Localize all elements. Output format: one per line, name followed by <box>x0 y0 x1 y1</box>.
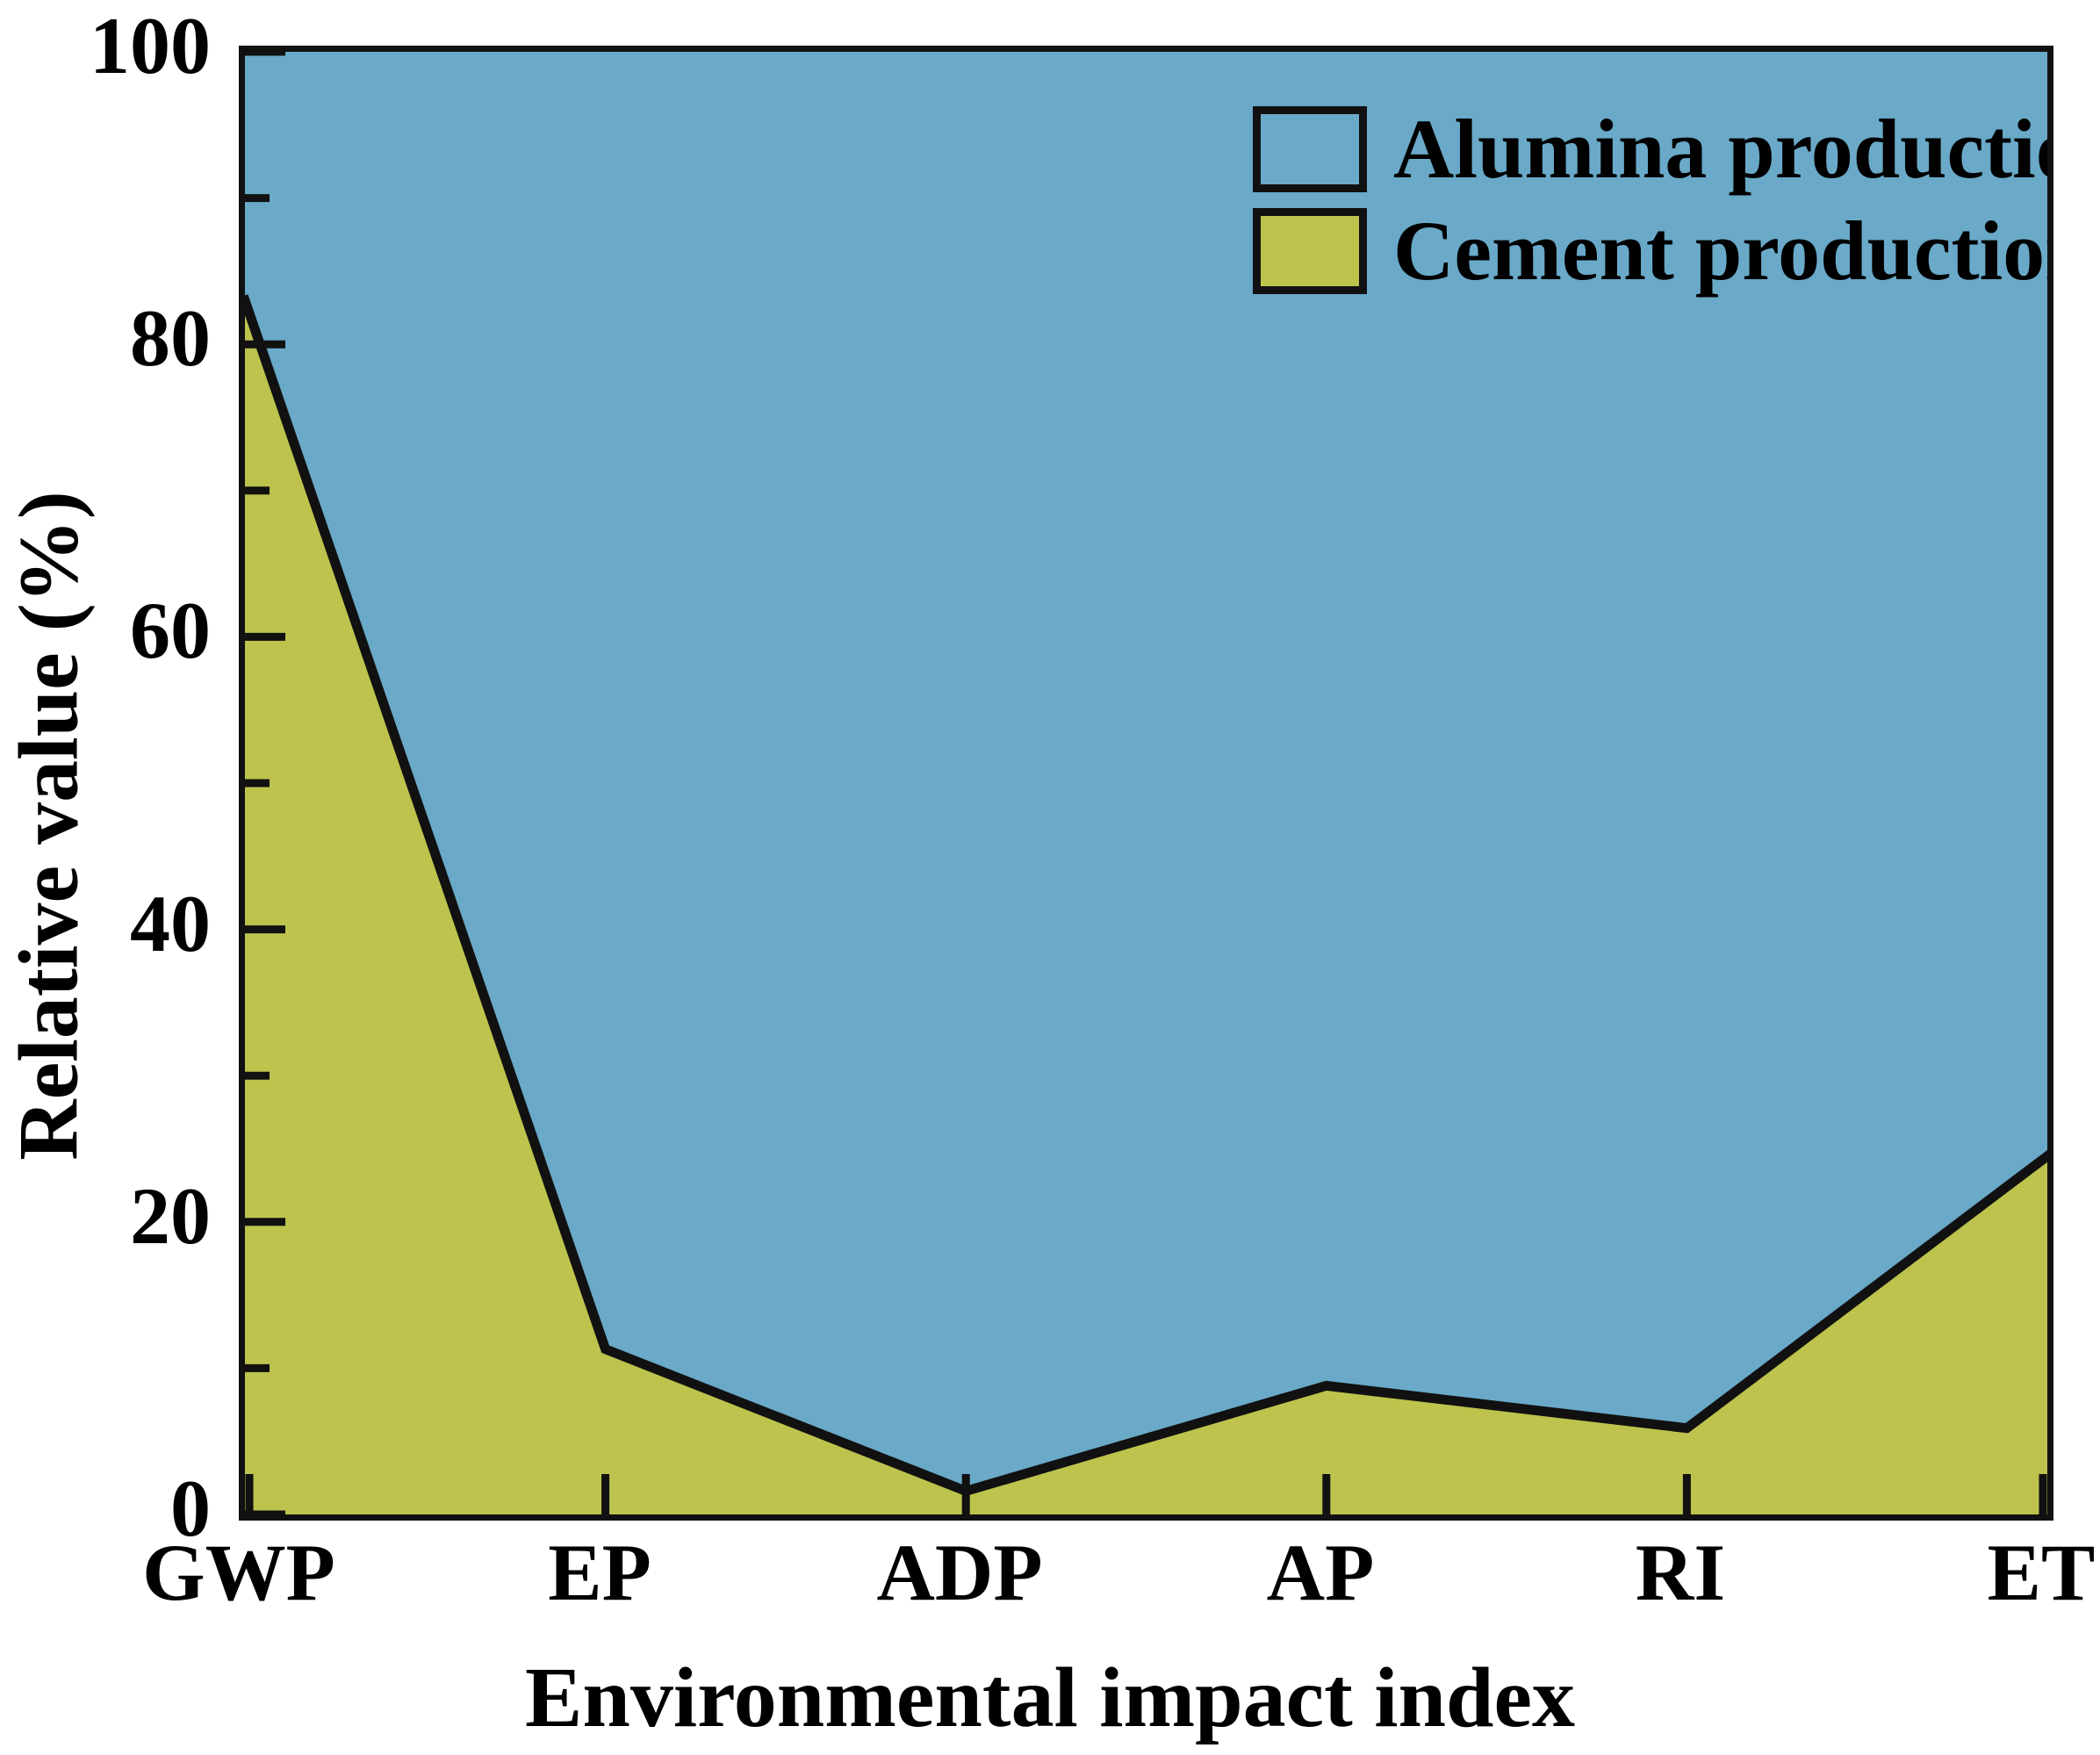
y-axis-title: Relative value (%) <box>0 299 97 1353</box>
x-tick-label-ri: RI <box>1636 1532 1725 1613</box>
x-tick-label-ap: AP <box>1267 1532 1375 1613</box>
x-axis-title: Environmental impact index <box>0 1649 2100 1747</box>
y-tick-label-100: 100 <box>0 5 211 86</box>
legend-label-alumina: Alumina production (1t) <box>1393 107 2053 191</box>
x-tick-label-gwp: GWP <box>142 1532 335 1613</box>
legend-item-alumina[interactable]: Alumina production (1t) <box>1253 106 2053 192</box>
legend-label-cement: Cement production (1t) <box>1393 209 2053 293</box>
chart-legend: Alumina production (1t) Cement productio… <box>1253 106 2053 294</box>
x-tick-label-ep: EP <box>548 1532 651 1613</box>
x-tick-label-adp: ADP <box>876 1532 1042 1613</box>
plot-area: Alumina production (1t) Cement productio… <box>239 46 2053 1521</box>
legend-swatch-cement <box>1253 208 1367 294</box>
x-tick-label-et: ET <box>1988 1532 2096 1613</box>
chart-figure: Alumina production (1t) Cement productio… <box>0 0 2100 1755</box>
legend-item-cement[interactable]: Cement production (1t) <box>1253 208 2053 294</box>
legend-swatch-alumina <box>1253 106 1367 192</box>
